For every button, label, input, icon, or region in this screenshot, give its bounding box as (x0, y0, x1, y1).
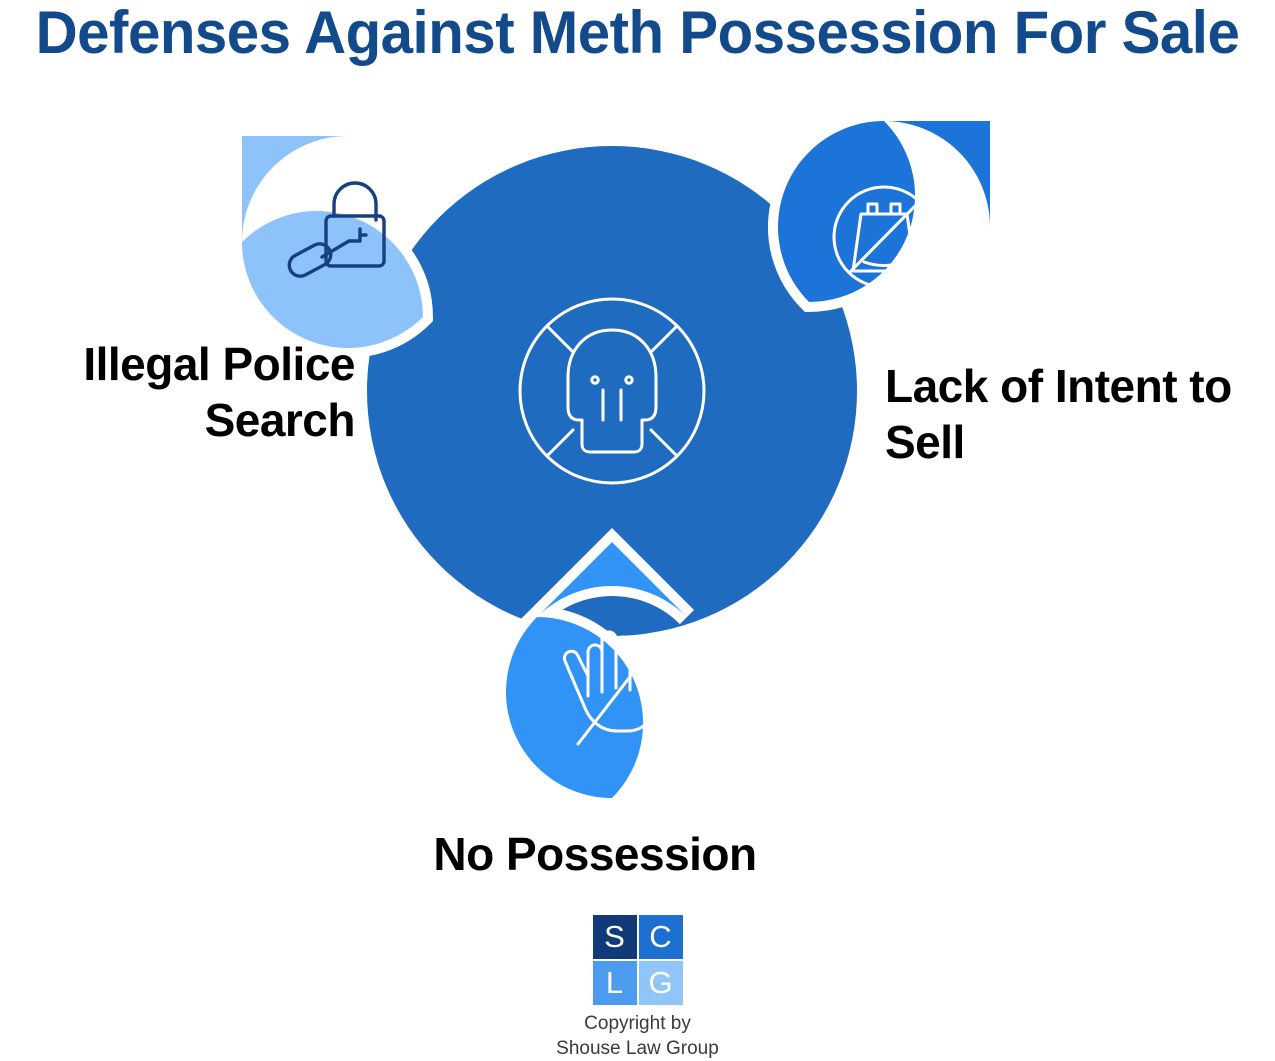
logo-cell-c: C (639, 915, 683, 959)
logo-cell-s: S (593, 915, 637, 959)
copyright-line-1: Copyright by (556, 1011, 719, 1036)
copyright-line-2: Shouse Law Group (556, 1036, 719, 1061)
node-label-illegal-police-search: Illegal Police Search (10, 336, 355, 448)
logo-cell-g: G (639, 961, 683, 1005)
shouse-law-group-logo[interactable]: S C L G (593, 915, 683, 1005)
copyright-text: Copyright by Shouse Law Group (556, 1011, 719, 1061)
infographic-diagram: Illegal Police Search Lack of Intent to … (0, 0, 1275, 1051)
footer: S C L G Copyright by Shouse Law Group (0, 915, 1275, 1061)
diagram-canvas (0, 0, 1275, 1051)
logo-cell-l: L (593, 961, 637, 1005)
node-label-lack-of-intent-to-sell: Lack of Intent to Sell (885, 358, 1245, 470)
node-label-no-possession: No Possession (345, 826, 845, 882)
